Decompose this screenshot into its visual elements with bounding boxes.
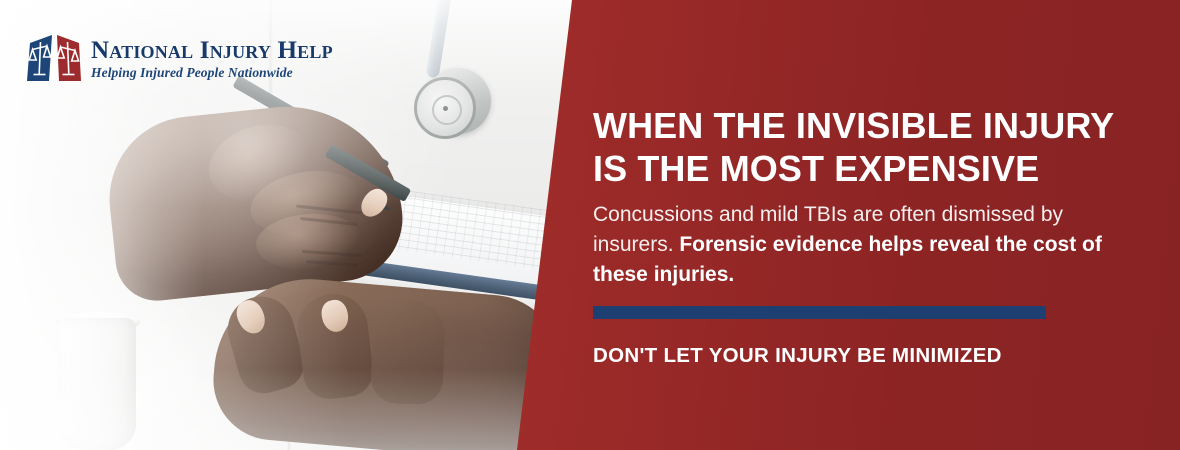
scales-of-justice-icon <box>26 33 82 85</box>
stethoscope-diaphragm-icon <box>414 77 476 139</box>
brand-logo[interactable]: National Injury Help Helping Injured Peo… <box>26 33 333 85</box>
headline-line-1: WHEN THE INVISIBLE INJURY <box>593 104 1114 147</box>
subcopy: Concussions and mild TBIs are often dism… <box>593 200 1123 290</box>
headline: WHEN THE INVISIBLE INJURY IS THE MOST EX… <box>593 104 1114 190</box>
headline-line-2: IS THE MOST EXPENSIVE <box>593 147 1114 190</box>
logo-title: National Injury Help <box>91 38 333 63</box>
finger <box>370 299 446 405</box>
call-to-action-tagline: DON'T LET YOUR INJURY BE MINIMIZED <box>593 344 1002 368</box>
banner-content: WHEN THE INVISIBLE INJURY IS THE MOST EX… <box>593 0 1153 450</box>
logo-tagline: Helping Injured People Nationwide <box>91 66 333 80</box>
mug <box>58 318 136 450</box>
navy-divider-bar <box>593 306 1046 319</box>
promotional-banner: National Injury Help Helping Injured Peo… <box>0 0 1180 450</box>
logo-wordmark: National Injury Help Helping Injured Peo… <box>91 38 333 80</box>
